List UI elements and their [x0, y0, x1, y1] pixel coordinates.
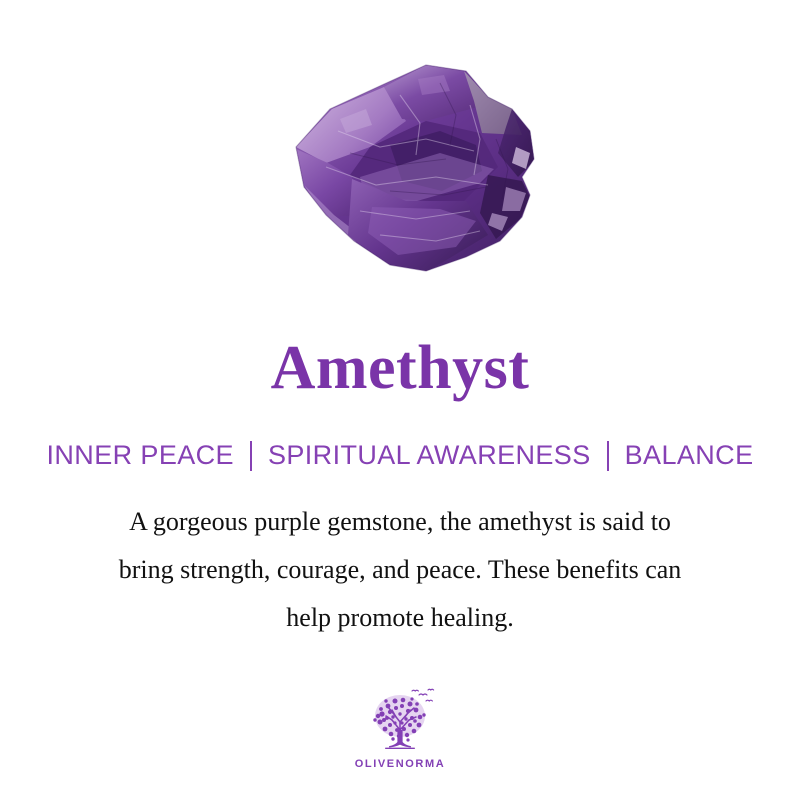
keyword-separator	[250, 441, 252, 471]
description-line: A gorgeous purple gemstone, the amethyst…	[50, 498, 750, 546]
keyword-spiritual-awareness: SPIRITUAL AWARENESS	[266, 440, 593, 471]
description-line: help promote healing.	[50, 594, 750, 642]
keyword-balance: BALANCE	[623, 440, 756, 471]
keyword-list: INNER PEACE SPIRITUAL AWARENESS BALANCE	[0, 440, 800, 471]
brand-logo: OLIVENORMA	[0, 686, 800, 770]
raw-amethyst-crystal	[230, 35, 570, 285]
description: A gorgeous purple gemstone, the amethyst…	[50, 498, 750, 642]
keyword-inner-peace: INNER PEACE	[45, 440, 236, 471]
crystal-body	[296, 65, 534, 271]
page-title: Amethyst	[0, 336, 800, 401]
description-line: bring strength, courage, and peace. Thes…	[50, 546, 750, 594]
amethyst-info-card: Amethyst INNER PEACE SPIRITUAL AWARENESS…	[0, 0, 800, 800]
keyword-separator	[607, 441, 609, 471]
tree-of-life-icon	[362, 686, 438, 756]
brand-wordmark: OLIVENORMA	[355, 758, 446, 770]
hero-image-container	[0, 0, 800, 320]
